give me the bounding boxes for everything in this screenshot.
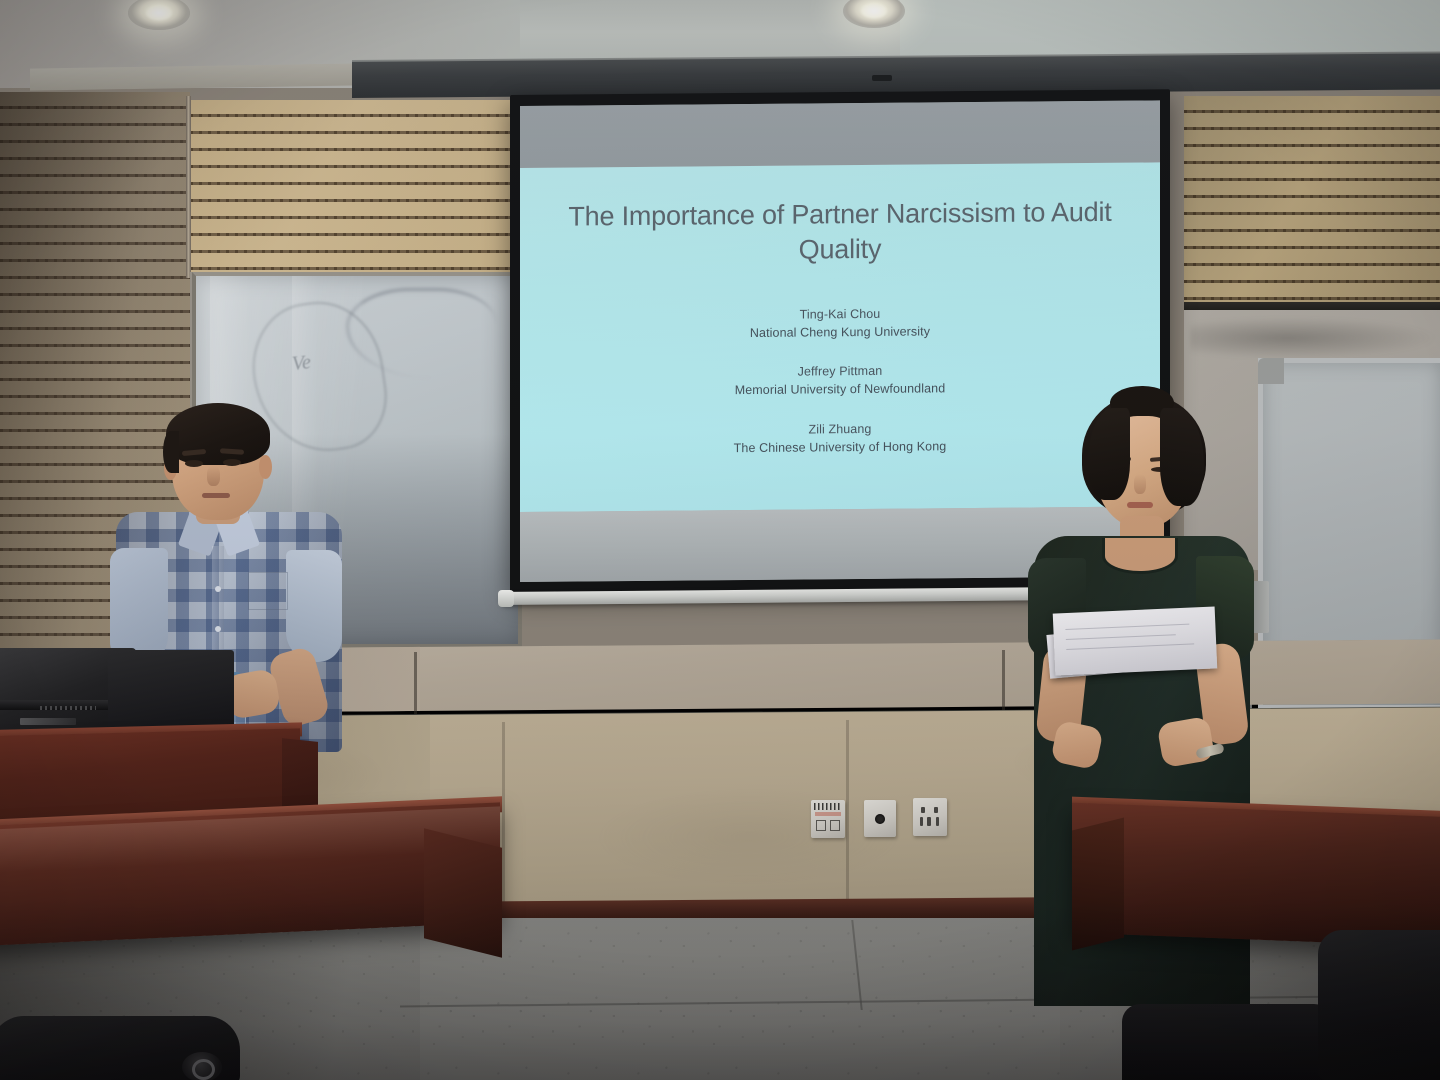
wood-slat-panel-right	[1184, 96, 1440, 306]
data-jack-1-icon	[816, 820, 826, 831]
woman-nose	[1134, 474, 1146, 494]
data-port-ticks	[814, 803, 842, 810]
screen-roller-endcap	[498, 590, 514, 607]
woman-hair-front-right	[1160, 408, 1204, 506]
soffit-mount-bracket	[872, 75, 892, 81]
plaster-smudge	[1190, 318, 1434, 358]
data-port-plate[interactable]	[811, 800, 845, 838]
man-nose	[207, 466, 220, 486]
slide-title: The Importance of Partner Narcissism to …	[558, 195, 1121, 270]
round-connector-plate[interactable]	[864, 800, 896, 837]
power-pin-icon	[920, 817, 923, 826]
man-shirt-pocket	[248, 572, 288, 610]
woman-mouth	[1127, 502, 1153, 508]
office-chair-right-seat	[1122, 1004, 1332, 1080]
woman-dress-collar	[1102, 538, 1178, 574]
stone-seam	[502, 722, 505, 912]
paper-sheets	[1053, 606, 1218, 675]
wood-slat-divider	[186, 96, 191, 278]
power-pin-icon	[936, 817, 939, 826]
author-affiliation: National Cheng Kung University	[558, 321, 1121, 344]
author-entry: Ting-Kai Chou National Cheng Kung Univer…	[558, 303, 1121, 344]
power-pin-icon	[934, 807, 938, 813]
desk-right-side-panel	[1072, 818, 1124, 951]
power-socket-plate[interactable]	[913, 798, 947, 836]
man-right-arm	[286, 550, 342, 662]
lecture-room-scene: Ve The Importance of Partner Narcissism …	[0, 0, 1440, 1080]
man-hair	[166, 403, 270, 465]
data-port-label	[815, 812, 841, 816]
desk-foreground-right	[1072, 803, 1440, 948]
screen-letterbox-top	[520, 100, 1160, 168]
stone-seam	[846, 720, 849, 912]
wood-slat-panel-middle	[190, 100, 520, 275]
man-mouth	[202, 493, 230, 498]
man-eye-right	[223, 459, 241, 466]
office-chair-left-wheel	[182, 1052, 222, 1080]
data-jack-2-icon	[830, 820, 840, 831]
man-ear-right	[259, 455, 272, 479]
monitor-vents	[40, 706, 96, 710]
stone-seam	[414, 652, 417, 714]
av-connector-icon	[875, 814, 885, 824]
whiteboard-corner-bracket	[1258, 358, 1284, 384]
man-eye-left	[185, 460, 203, 467]
power-pin-icon	[921, 807, 925, 813]
office-chair-right	[1318, 930, 1440, 1080]
stone-seam	[1002, 650, 1005, 712]
power-ground-icon	[927, 817, 931, 826]
desk-left-side-panel	[424, 828, 502, 957]
monitor-badge	[20, 718, 76, 725]
